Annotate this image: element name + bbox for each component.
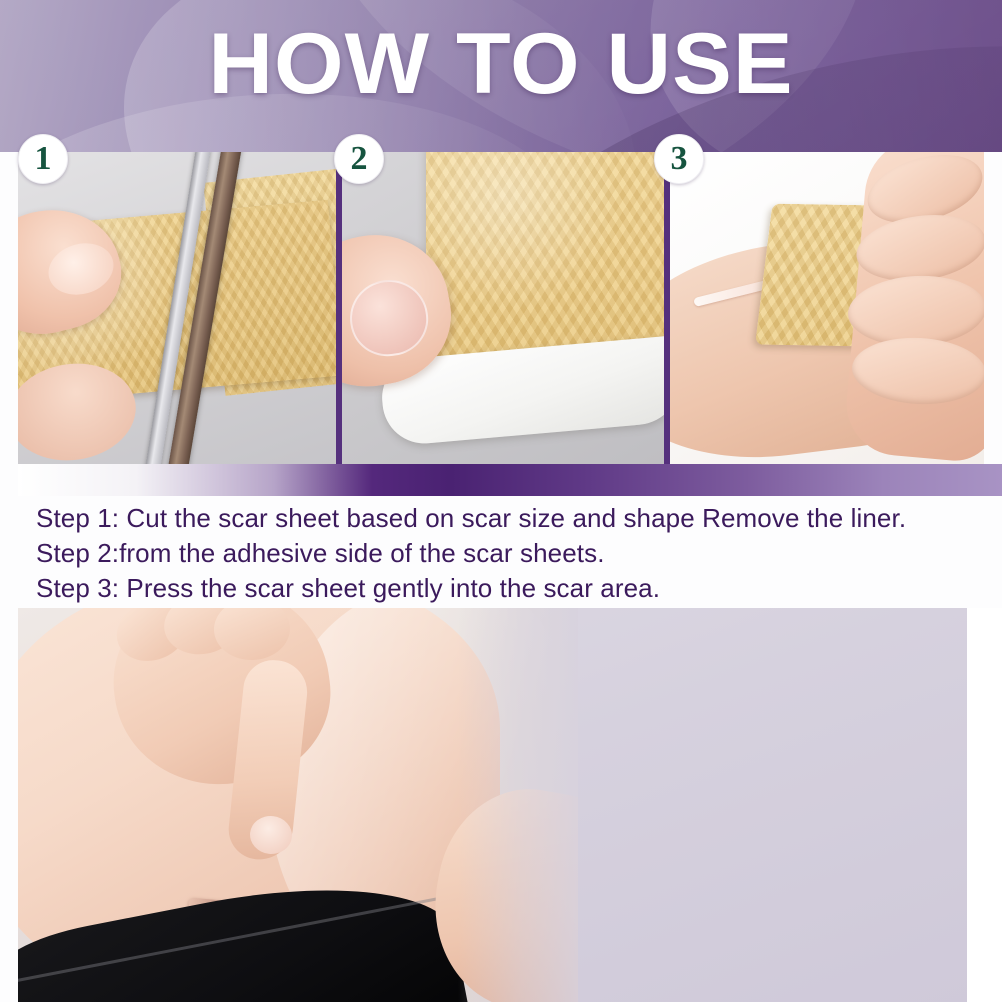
header-banner: HOW TO USE: [0, 0, 1002, 152]
step-photo-3: [670, 152, 984, 464]
step-photo-1: [18, 152, 342, 464]
bottom-section: √ Noninvasive Safety √ Advanced Techniqu…: [18, 608, 985, 1002]
applying-sheet-to-arm-photo: [670, 152, 984, 464]
right-white-edge: [967, 608, 1002, 1002]
gradient-divider-bar: [18, 464, 1002, 496]
abdomen-scar-photo: [18, 608, 578, 1002]
step-badge-2: 2: [334, 134, 384, 184]
scissors-cutting-sheet-photo: [18, 152, 336, 464]
step-badge-3: 3: [654, 134, 704, 184]
peeling-liner-photo: [342, 152, 664, 464]
step-photo-strip: [18, 152, 984, 464]
infographic-page: HOW TO USE: [0, 0, 1002, 1002]
page-title: HOW TO USE: [0, 16, 1002, 112]
step-photo-2: [342, 152, 670, 464]
instruction-line-1: Step 1: Cut the scar sheet based on scar…: [36, 502, 976, 535]
photo-fade-overlay: [458, 608, 578, 1002]
step-badge-1: 1: [18, 134, 68, 184]
instruction-line-2: Step 2:from the adhesive side of the sca…: [36, 537, 976, 570]
instruction-line-3: Step 3: Press the scar sheet gently into…: [36, 572, 976, 605]
instructions-block: Step 1: Cut the scar sheet based on scar…: [36, 502, 976, 607]
